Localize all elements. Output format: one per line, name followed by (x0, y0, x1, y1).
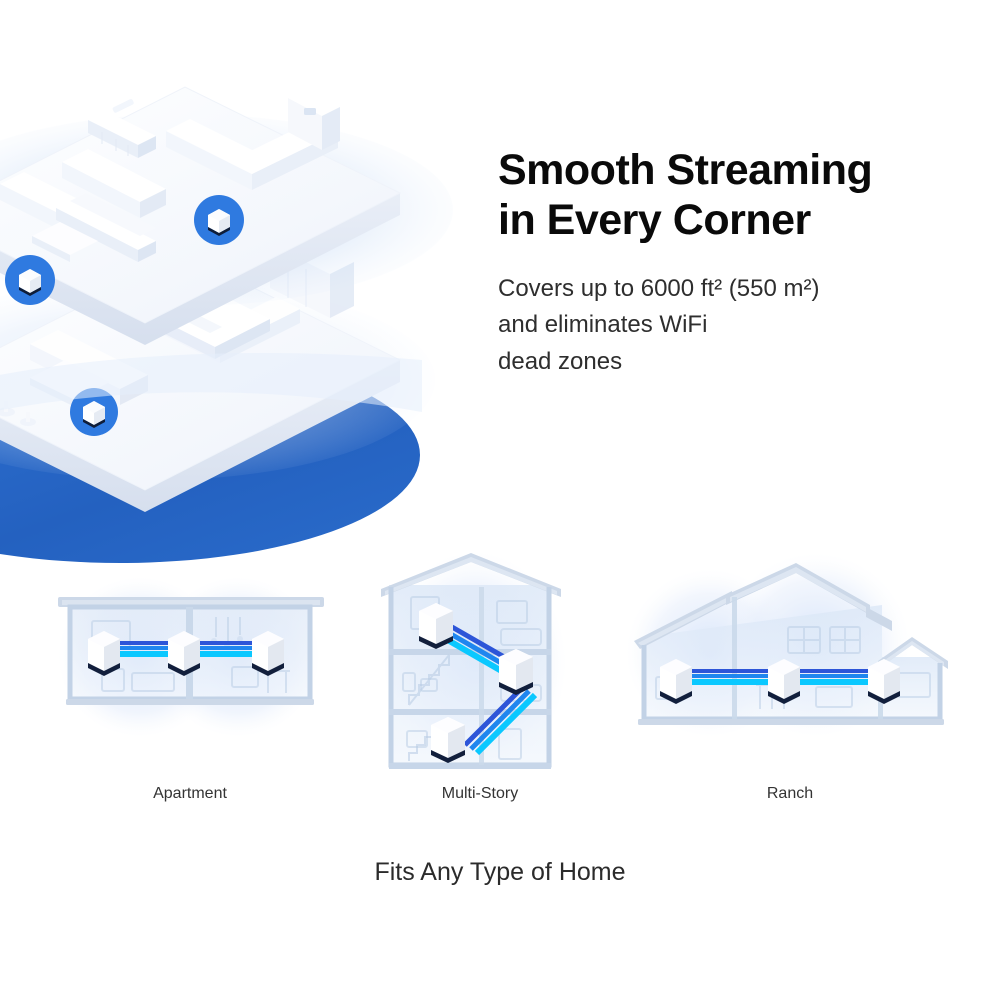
mesh-unit (431, 717, 465, 763)
home-type-multistory[interactable]: Multi-Story (355, 545, 605, 835)
mesh-unit (499, 649, 533, 695)
home-type-label-ranch: Ranch (620, 785, 960, 803)
mesh-unit-badge-1 (194, 195, 244, 245)
mesh-unit (768, 659, 800, 704)
mesh-unit (660, 659, 692, 704)
mesh-unit (419, 603, 453, 649)
home-type-ranch[interactable]: Ranch (620, 545, 960, 835)
page-root: Smooth Streaming in Every Corner Covers … (0, 0, 1000, 1000)
multistory-icon (355, 545, 605, 785)
page-title: Smooth Streaming in Every Corner (498, 145, 958, 246)
mesh-unit (168, 631, 200, 676)
ranch-icon (620, 545, 960, 775)
hero-subtitle: Covers up to 6000 ft² (550 m²) and elimi… (498, 271, 958, 380)
hero-section: Smooth Streaming in Every Corner Covers … (0, 0, 1000, 540)
apartment-icon (40, 545, 340, 775)
home-type-apartment[interactable]: Apartment (40, 545, 340, 835)
mesh-unit (868, 659, 900, 704)
section-caption: Fits Any Type of Home (0, 858, 1000, 887)
mesh-unit-badge-2 (5, 255, 55, 305)
hero-copy: Smooth Streaming in Every Corner Covers … (498, 145, 958, 380)
mesh-unit (88, 631, 120, 676)
floorplan-illustration (0, 60, 470, 540)
mesh-unit (252, 631, 284, 676)
home-types-section: Apartment (0, 545, 1000, 835)
home-type-label-multistory: Multi-Story (355, 785, 605, 803)
home-type-label-apartment: Apartment (40, 785, 340, 803)
